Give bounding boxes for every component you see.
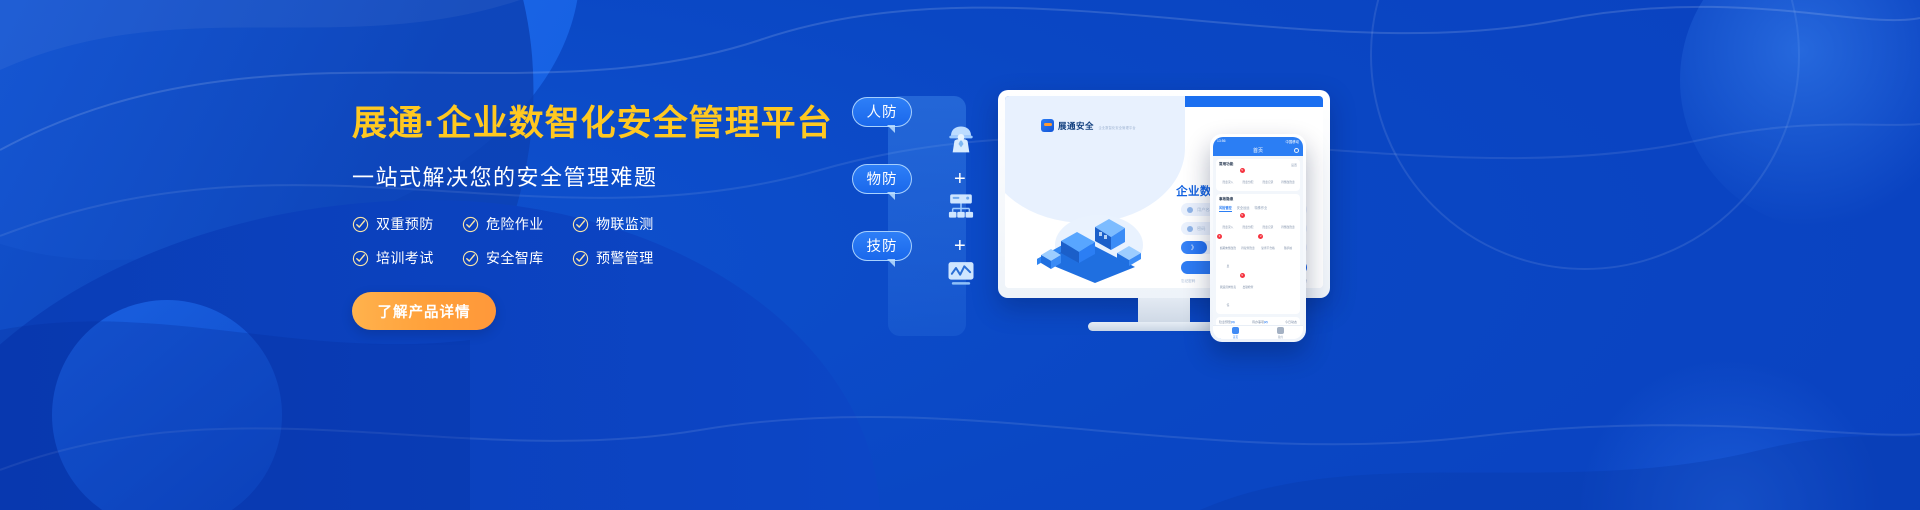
badge-label: 物防	[867, 168, 898, 189]
app-tile[interactable]: 随手拍	[1279, 236, 1297, 272]
protection-row: 技防 +	[852, 212, 982, 279]
brand-tagline: 企业数智化安全管理平台	[1098, 126, 1135, 130]
alert-count: (3)	[1231, 320, 1235, 324]
gear-icon[interactable]	[1294, 148, 1299, 153]
signal-chart-icon	[944, 258, 978, 288]
phone-tab-bar: 首页 我的	[1213, 325, 1303, 339]
app-tile[interactable]: 隐患录入	[1219, 215, 1237, 233]
hero-copy: 展通·企业数智化安全管理平台 一站式解决您的安全管理难题 双重预防 危险作业	[352, 104, 912, 330]
home-icon	[1232, 327, 1239, 334]
app-label: 待复查隐患	[1241, 247, 1254, 250]
badge-jifang[interactable]: 技防	[852, 231, 912, 261]
user-icon	[1187, 207, 1193, 213]
app-label: 出勤检查	[1243, 286, 1254, 289]
phone-nav-bar: 首页	[1213, 145, 1303, 156]
learn-more-button[interactable]: 了解产品详情	[352, 292, 496, 330]
hero-banner: 展通·企业数智化安全管理平台 一站式解决您的安全管理难题 双重预防 危险作业	[0, 0, 1920, 510]
check-circle-icon	[572, 216, 589, 233]
app-label: 隐患记录	[1263, 226, 1274, 229]
badge-count: 5	[1240, 213, 1245, 218]
device-showcase: 人防 物防 +	[840, 48, 1880, 468]
feature-item: 双重预防	[352, 214, 462, 234]
tab-home-label: 首页	[1233, 336, 1238, 339]
feature-label: 培训考试	[376, 248, 434, 268]
phone-screen: 13:56 中国移动 首页 常用功能 设置 隐	[1213, 137, 1303, 339]
feature-label: 物联监测	[596, 214, 654, 234]
page-subtitle: 一站式解决您的安全管理难题	[352, 160, 912, 192]
app-label: 隐患记录	[1263, 181, 1274, 184]
app-label: 待整改隐患	[1281, 226, 1294, 229]
forgot-password-link[interactable]: 忘记密码	[1181, 279, 1195, 284]
feature-label: 安全智库	[486, 248, 544, 268]
plus-separator: +	[954, 169, 966, 189]
app-label: 隐患录入	[1223, 226, 1234, 229]
feature-item: 物联监测	[572, 214, 682, 234]
feature-list: 双重预防 危险作业 物联监测	[352, 214, 912, 268]
app-tile[interactable]: 我运营岗位责任	[1219, 275, 1237, 311]
app-label: 超期未整改隐患	[1220, 247, 1236, 268]
check-circle-icon	[352, 216, 369, 233]
app-tile[interactable]: 5 隐患分配	[1239, 170, 1257, 188]
phone-section-tabs: 风险管控 安全运运 特殊作业	[1219, 205, 1297, 212]
app-tile[interactable]: 9 出勤检查	[1239, 275, 1257, 311]
app-tile[interactable]: 5 隐患分配	[1239, 215, 1257, 233]
mobile-phone-mockup: 13:56 中国移动 首页 常用功能 设置 隐	[1210, 134, 1306, 342]
isometric-city-illustration	[1017, 197, 1167, 283]
check-circle-icon	[462, 250, 479, 267]
tab-risk[interactable]: 风险管控	[1219, 205, 1232, 212]
app-tile[interactable]: 待整改隐患	[1279, 170, 1297, 188]
feature-item: 安全智库	[462, 248, 572, 268]
monitor-neck	[1138, 298, 1190, 322]
badge-count: 2	[1258, 234, 1263, 239]
slider-handle[interactable]: 》	[1181, 241, 1207, 254]
protection-badges: 人防 物防 +	[852, 78, 982, 279]
section-action[interactable]: 设置	[1291, 163, 1297, 167]
app-label: 隐患录入	[1223, 181, 1234, 184]
check-circle-icon	[462, 216, 479, 233]
badge-count: 5	[1240, 168, 1245, 173]
feature-label: 预警管理	[596, 248, 654, 268]
tab-special[interactable]: 特殊作业	[1255, 205, 1268, 212]
protection-row: 物防 +	[852, 145, 982, 212]
list-tab-todo[interactable]: 待办事项	[1252, 320, 1264, 324]
badge-label: 人防	[867, 101, 898, 122]
app-tile[interactable]: 隐患记录	[1259, 215, 1277, 233]
feature-label: 危险作业	[486, 214, 544, 234]
phone-section-hazard: 事故隐患 风险管控 安全运运 特殊作业 隐患录入	[1216, 194, 1300, 314]
badge-count: 3	[1217, 234, 1222, 239]
todo-count: (2)	[1264, 320, 1268, 324]
feature-label: 双重预防	[376, 214, 434, 234]
brand-logo: 展通安全 企业数智化安全管理平台	[1041, 117, 1136, 133]
status-carrier: 中国移动	[1285, 139, 1299, 144]
tab-profile-label: 我的	[1278, 336, 1283, 339]
app-tile[interactable]: 2 复查不合格	[1259, 236, 1277, 272]
app-label: 我运营岗位责任	[1220, 286, 1236, 307]
badge-wufang[interactable]: 物防	[852, 164, 912, 194]
app-label: 隐患分配	[1243, 226, 1254, 229]
tab-profile[interactable]: 我的	[1277, 327, 1284, 339]
phone-app-grid: 隐患录入 5 隐患分配 隐患记录	[1219, 170, 1297, 188]
section-title: 事故隐患	[1219, 197, 1233, 202]
tab-home[interactable]: 首页	[1232, 327, 1239, 339]
logo-mark-icon	[1041, 119, 1054, 132]
user-icon	[1277, 327, 1284, 334]
protection-row: 人防	[852, 78, 982, 145]
badge-label: 技防	[867, 235, 898, 256]
app-tile[interactable]: 隐患记录	[1259, 170, 1277, 188]
phone-section-common: 常用功能 设置 隐患录入 5 隐患分配	[1216, 159, 1300, 191]
app-tile[interactable]: 待整改隐患	[1279, 215, 1297, 233]
badge-renfang[interactable]: 人防	[852, 97, 912, 127]
app-tile[interactable]: 待复查隐患	[1239, 236, 1257, 272]
list-tab-alerts[interactable]: 隐患预警	[1219, 320, 1231, 324]
tab-ops[interactable]: 安全运运	[1237, 205, 1250, 212]
app-label: 隐患分配	[1243, 181, 1254, 184]
app-tile[interactable]: 3 超期未整改隐患	[1219, 236, 1237, 272]
check-circle-icon	[572, 250, 589, 267]
password-placeholder: 密码	[1197, 226, 1205, 232]
plus-separator: +	[954, 236, 966, 256]
feature-item: 危险作业	[462, 214, 572, 234]
phone-status-bar: 13:56 中国移动	[1213, 137, 1303, 145]
app-label: 复查不合格	[1261, 247, 1274, 250]
app-label: 待整改隐患	[1281, 181, 1294, 184]
app-label: 随手拍	[1284, 247, 1292, 250]
feature-item: 培训考试	[352, 248, 462, 268]
lock-icon	[1187, 226, 1193, 232]
check-circle-icon	[352, 250, 369, 267]
badge-count: 9	[1240, 273, 1245, 278]
list-tab-today[interactable]: 今日动态	[1285, 320, 1297, 324]
page-title: 展通·企业数智化安全管理平台	[352, 104, 912, 144]
status-time: 13:56	[1217, 139, 1226, 143]
phone-app-grid: 隐患录入 5 隐患分配 隐患记录	[1219, 215, 1297, 311]
section-title: 常用功能	[1219, 162, 1233, 167]
app-tile[interactable]: 隐患录入	[1219, 170, 1237, 188]
phone-nav-title: 首页	[1253, 147, 1263, 154]
feature-item: 预警管理	[572, 248, 682, 268]
brand-name: 展通安全	[1058, 121, 1094, 131]
